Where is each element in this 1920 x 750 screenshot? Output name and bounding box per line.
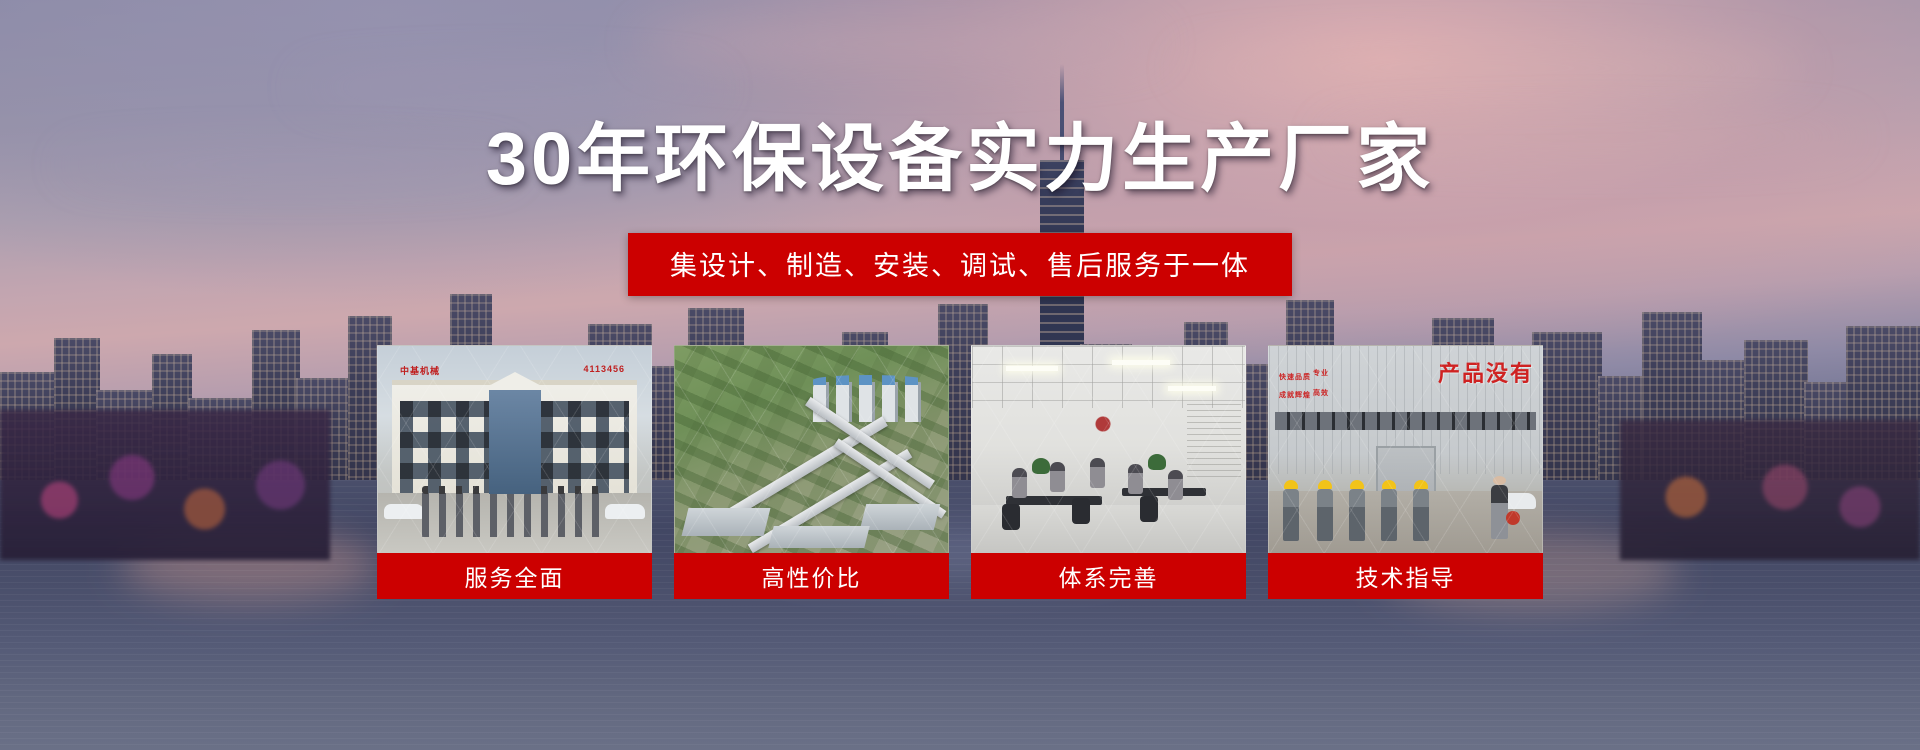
factory-slogan: 高效 [1313,388,1329,398]
card-caption: 技术指导 [1268,553,1543,599]
subtitle-ribbon-wrapper: 集设计、制造、安装、调试、售后服务于一体 [0,233,1920,296]
building-phone-text: 4113456 [583,364,625,374]
factory-slogan: 快速品质 [1279,372,1311,382]
factory-sign-text: 产品没有 [1438,356,1534,388]
cloud-streak [1180,48,1800,88]
feature-card-list: 中基机械 4113456 服务全面 高性价比 [0,345,1920,599]
building-sign-text: 中基机械 [400,364,440,377]
card-photo-company-building: 中基机械 4113456 [377,345,652,553]
feature-card[interactable]: 体系完善 [971,345,1246,599]
card-photo-factory-workers: 产品没有 快速品质 专业 成就辉煌 高效 [1268,345,1543,553]
hero-banner: 30年环保设备实力生产厂家 集设计、制造、安装、调试、售后服务于一体 中基机械 … [0,0,1920,750]
page-title: 30年环保设备实力生产厂家 [0,122,1920,196]
feature-card[interactable]: 高性价比 [674,345,949,599]
card-caption: 服务全面 [377,553,652,599]
card-photo-aerial-plant [674,345,949,553]
factory-slogan: 专业 [1313,368,1329,378]
cloud-streak [300,70,720,104]
cloud-streak [640,20,1160,68]
feature-card[interactable]: 中基机械 4113456 服务全面 [377,345,652,599]
card-photo-office-interior [971,345,1246,553]
subtitle-ribbon: 集设计、制造、安装、调试、售后服务于一体 [628,233,1292,296]
factory-slogan: 成就辉煌 [1279,390,1311,400]
feature-card[interactable]: 产品没有 快速品质 专业 成就辉煌 高效 技术指导 [1268,345,1543,599]
card-caption: 高性价比 [674,553,949,599]
card-caption: 体系完善 [971,553,1246,599]
